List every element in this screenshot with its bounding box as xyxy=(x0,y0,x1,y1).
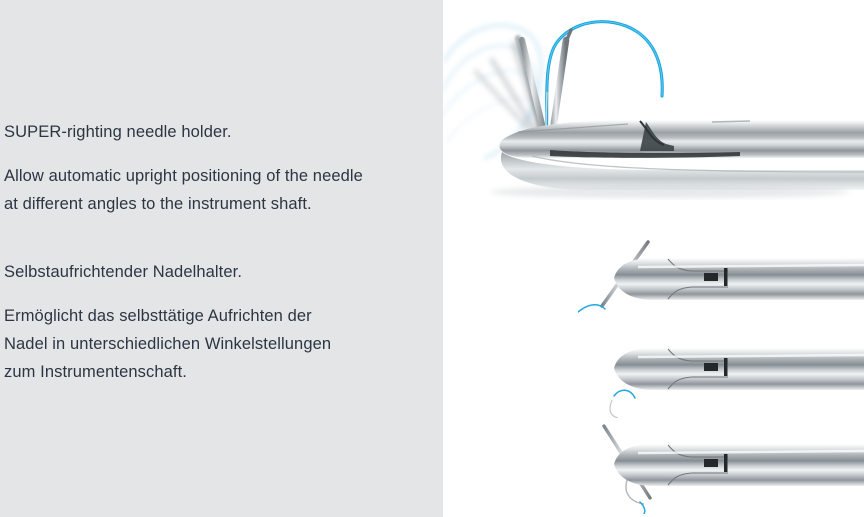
jaw-pin xyxy=(724,268,728,286)
english-body-line: Allow automatic upright positioning of t… xyxy=(4,162,434,190)
german-body: Ermöglicht das selbsttätige Aufrichten d… xyxy=(4,302,434,386)
needle-holder-angled-back-photo xyxy=(578,418,864,514)
jaw-slot xyxy=(704,459,718,467)
german-body-line: Nadel in unterschiedlichen Winkelstellun… xyxy=(4,330,434,358)
german-copy-block: Selbstaufrichtender Nadelhalter. Ermögli… xyxy=(4,258,434,386)
jaw-slot xyxy=(704,363,718,371)
image-panel xyxy=(443,0,864,517)
needle-holder-hero-photo xyxy=(443,0,864,200)
english-body: Allow automatic upright positioning of t… xyxy=(4,162,434,218)
german-body-line: Ermöglicht das selbsttätige Aufrichten d… xyxy=(4,302,434,330)
needle-holder-upright-photo xyxy=(578,322,864,418)
jaw-slot xyxy=(704,273,718,281)
jaw-pin xyxy=(724,358,728,376)
english-heading: SUPER-righting needle holder. xyxy=(4,118,434,146)
needle-holder-angled-forward-photo xyxy=(578,232,864,328)
hero-shadow xyxy=(490,186,850,198)
german-heading: Selbstaufrichtender Nadelhalter. xyxy=(4,258,434,286)
jaw-pin xyxy=(724,454,728,472)
english-body-line: at different angles to the instrument sh… xyxy=(4,190,434,218)
german-body-line: zum Instrumentenschaft. xyxy=(4,358,434,386)
text-panel: SUPER-righting needle holder. Allow auto… xyxy=(0,0,443,517)
shaft-top-line xyxy=(712,121,750,122)
english-copy-block: SUPER-righting needle holder. Allow auto… xyxy=(4,118,434,218)
brochure-page: SUPER-righting needle holder. Allow auto… xyxy=(0,0,864,517)
